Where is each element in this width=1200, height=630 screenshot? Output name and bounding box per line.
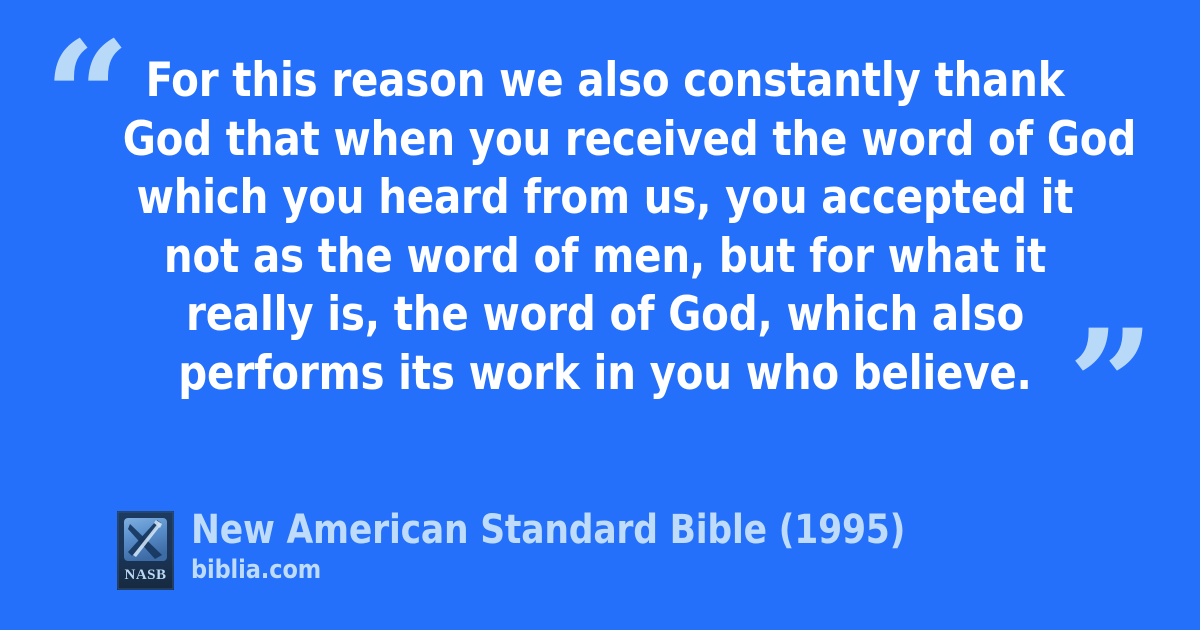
- attribution-text: New American Standard Bible (1995) bibli…: [191, 508, 935, 585]
- verse-line: performs its work in you who believe.: [123, 345, 1088, 404]
- bible-verse-quote-card: “ For this reason we also constantly tha…: [0, 0, 1200, 630]
- svg-text:NASB: NASB: [124, 567, 166, 583]
- verse-line: not as the word of men, but for what it: [123, 228, 1088, 287]
- verse-text-block: For this reason we also constantly thank…: [100, 52, 1110, 403]
- site-url: biblia.com: [191, 555, 905, 585]
- attribution: NASB New American Standard Bible (1995) …: [117, 508, 935, 590]
- verse-line: which you heard from us, you accepted it: [123, 169, 1088, 228]
- verse-line: really is, the word of God, which also: [123, 286, 1088, 345]
- nasb-logo-icon: NASB: [117, 511, 174, 590]
- verse-line: God that when you received the word of G…: [123, 111, 1088, 170]
- close-quote-icon: ”: [1068, 310, 1148, 460]
- verse-line: For this reason we also constantly thank: [123, 52, 1088, 111]
- bible-version-title: New American Standard Bible (1995): [191, 508, 905, 553]
